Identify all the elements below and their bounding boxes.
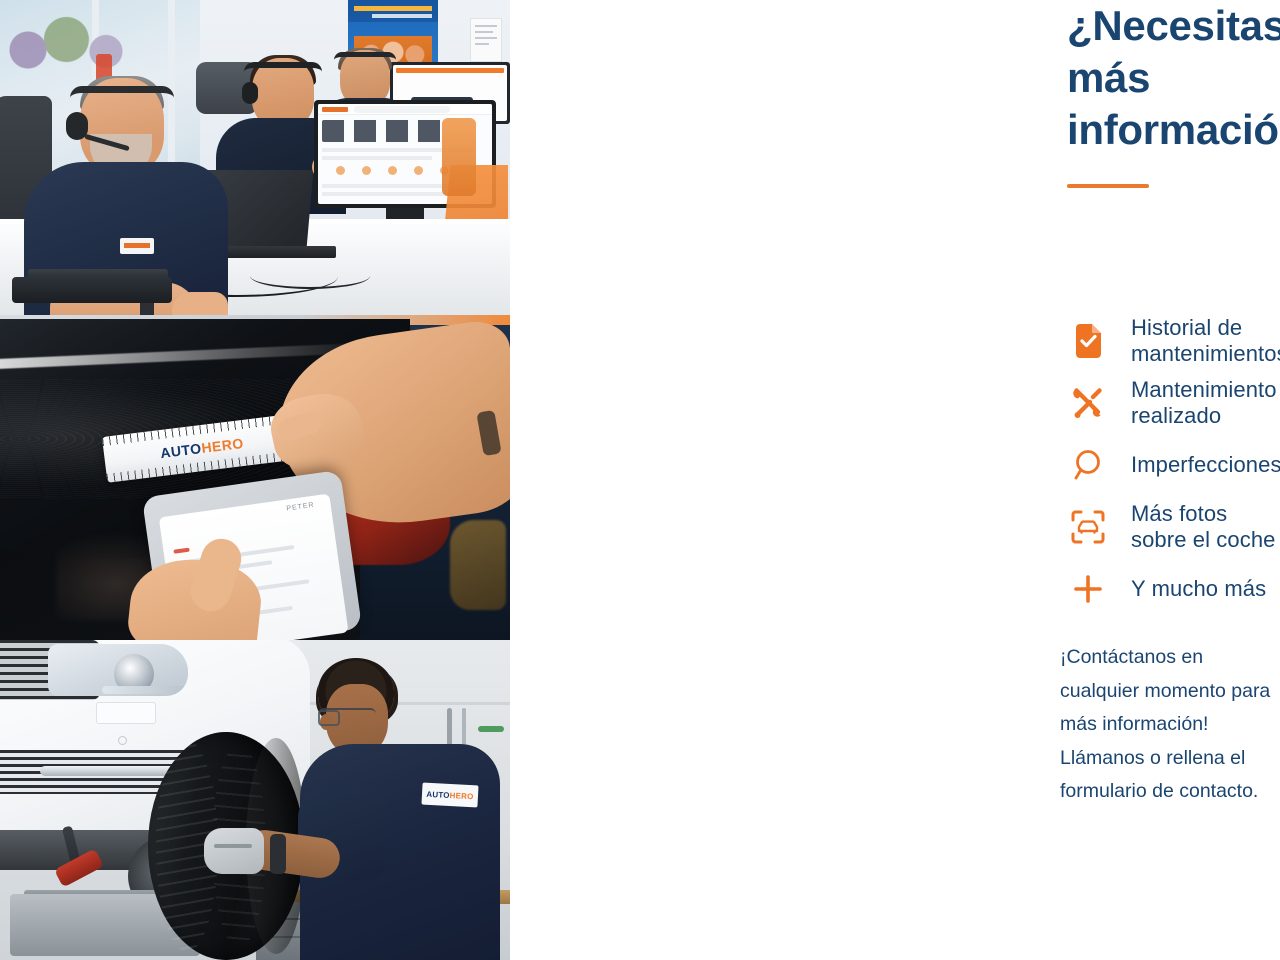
feature-label: Mantenimiento realizado: [1131, 377, 1280, 429]
photo1-poster-headline: [354, 6, 432, 11]
photo2-ruler-brand: AUTOHERO: [159, 435, 244, 461]
promo-page: AUTOHERO PETER: [0, 0, 1280, 960]
feature-item-fotos: Más fotos sobre el coche: [1067, 496, 1280, 558]
feature-label: Más fotos sobre el coche: [1131, 501, 1280, 553]
page-title: ¿Necesitas más información?: [1067, 0, 1280, 156]
photo3-mechanic: AUTOHERO: [300, 658, 500, 960]
feature-item-mas: Y mucho más: [1067, 558, 1280, 620]
contact-line-1: ¡Contáctanos en cualquier momento para m…: [1060, 641, 1280, 742]
brand-hero-text: HERO: [201, 435, 245, 456]
brand-auto-text: AUTO: [159, 440, 202, 461]
mechanic-wheel-photo: AUTOHERO: [0, 640, 510, 960]
brand-auto-text: AUTO: [426, 789, 450, 799]
photo1-notice-board: [470, 18, 502, 62]
photo-column: AUTOHERO PETER: [0, 0, 510, 960]
photo2-background-object: [450, 520, 506, 610]
car-scan-icon: [1067, 510, 1109, 544]
plus-icon: [1067, 573, 1109, 605]
photo1-poster-subline: [372, 14, 432, 18]
car-inspection-ruler-photo: AUTOHERO PETER: [0, 315, 510, 640]
photo3-uniform-brand: AUTOHERO: [421, 783, 478, 808]
feature-label: Y mucho más: [1131, 576, 1266, 602]
feature-label: Historial de mantenimientos: [1131, 315, 1280, 367]
feature-label: Imperfecciones: [1131, 452, 1280, 478]
title-underline-rule: [1067, 184, 1149, 188]
magnifier-icon: [1067, 449, 1109, 481]
document-check-icon: [1067, 324, 1109, 358]
contact-copy: ¡Contáctanos en cualquier momento para m…: [1060, 641, 1280, 809]
features-list: Historial de mantenimientos Mantenimient…: [1067, 310, 1280, 620]
photo1-desk-tablet: [12, 277, 172, 303]
contact-line-2: Llámanos o rellena el formulario de cont…: [1060, 742, 1280, 809]
photo3-headlight: [48, 644, 188, 696]
brand-hero-text: HERO: [449, 790, 473, 800]
call-center-agents-photo: [0, 0, 510, 315]
feature-item-imperfecciones: Imperfecciones: [1067, 434, 1280, 496]
photo1-cable: [250, 263, 370, 289]
photo1-orange-accent: [442, 118, 476, 196]
tools-icon: [1067, 386, 1109, 420]
photo3-sensor-dot: [118, 736, 127, 745]
content-panel: ¿Necesitas más información? Estamos enca…: [510, 0, 1280, 960]
heading-block: ¿Necesitas más información?: [1067, 0, 1280, 188]
photo3-license-plate-area: [96, 702, 156, 724]
feature-item-mantenimiento: Mantenimiento realizado: [1067, 372, 1280, 434]
feature-item-historial: Historial de mantenimientos: [1067, 310, 1280, 372]
